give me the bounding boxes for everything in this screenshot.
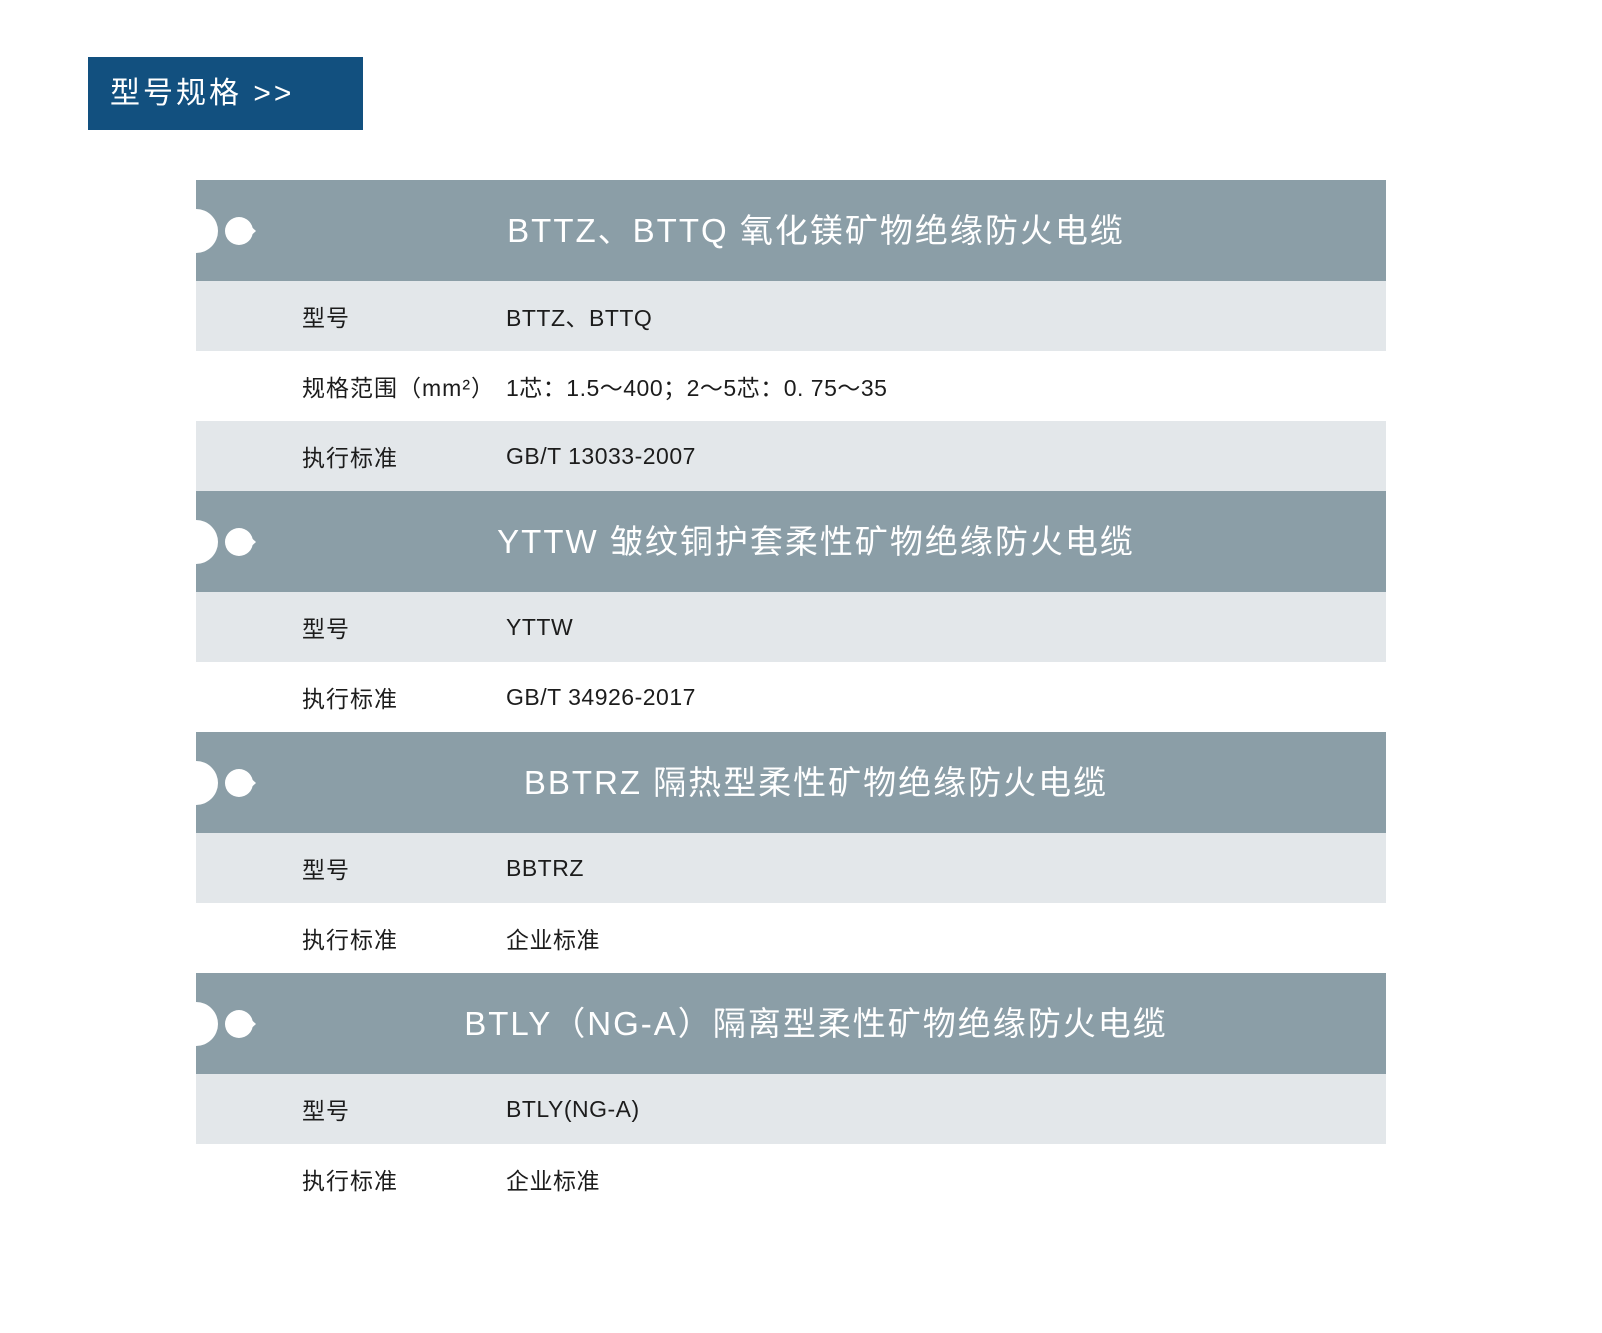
double-chevron-right-icon [224, 214, 258, 248]
spec-row: 型号YTTW [196, 592, 1386, 662]
spec-row-label: 执行标准 [196, 439, 506, 473]
section-header-1[interactable]: YTTW 皱纹铜护套柔性矿物绝缘防火电缆 [196, 491, 1386, 592]
spec-row-value: GB/T 13033-2007 [506, 443, 1386, 470]
section-title: BTLY（NG-A）隔离型柔性矿物绝缘防火电缆 [374, 1007, 1208, 1040]
section-header-2[interactable]: BBTRZ 隔热型柔性矿物绝缘防火电缆 [196, 732, 1386, 833]
spec-row-value: 企业标准 [506, 921, 1386, 955]
spec-row-value: YTTW [506, 614, 1386, 641]
specification-table: BTTZ、BTTQ 氧化镁矿物绝缘防火电缆型号BTTZ、BTTQ规格范围（mm²… [196, 180, 1386, 1214]
spec-row-label: 执行标准 [196, 921, 506, 955]
section-title: BBTRZ 隔热型柔性矿物绝缘防火电缆 [434, 766, 1148, 799]
spec-row-value: 1芯：1.5～400；2～5芯：0. 75～35 [506, 369, 1386, 403]
spec-row-label: 规格范围（mm²） [196, 369, 506, 403]
half-circle-notch-icon [196, 761, 218, 805]
spec-row-label: 执行标准 [196, 680, 506, 714]
spec-row: 执行标准GB/T 13033-2007 [196, 421, 1386, 491]
model-spec-tab-button[interactable]: 型号规格 >> [88, 57, 363, 130]
spec-row-value: BTTZ、BTTQ [506, 299, 1386, 333]
spec-row: 型号BBTRZ [196, 833, 1386, 903]
spec-section: BBTRZ 隔热型柔性矿物绝缘防火电缆型号BBTRZ执行标准企业标准 [196, 732, 1386, 973]
spec-row-value: 企业标准 [506, 1162, 1386, 1196]
spec-row-label: 执行标准 [196, 1162, 506, 1196]
spec-row: 规格范围（mm²）1芯：1.5～400；2～5芯：0. 75～35 [196, 351, 1386, 421]
spec-row-label: 型号 [196, 851, 506, 885]
half-circle-notch-icon [196, 1002, 218, 1046]
double-chevron-right-icon [224, 525, 258, 559]
spec-section: BTLY（NG-A）隔离型柔性矿物绝缘防火电缆型号BTLY(NG-A)执行标准企… [196, 973, 1386, 1214]
double-chevron-right-icon [224, 1007, 258, 1041]
spec-row-label: 型号 [196, 299, 506, 333]
section-title: YTTW 皱纹铜护套柔性矿物绝缘防火电缆 [407, 525, 1175, 558]
spec-section: YTTW 皱纹铜护套柔性矿物绝缘防火电缆型号YTTW执行标准GB/T 34926… [196, 491, 1386, 732]
spec-section: BTTZ、BTTQ 氧化镁矿物绝缘防火电缆型号BTTZ、BTTQ规格范围（mm²… [196, 180, 1386, 491]
spec-row-value: BTLY(NG-A) [506, 1096, 1386, 1123]
spec-row-label: 型号 [196, 610, 506, 644]
spec-row-label: 型号 [196, 1092, 506, 1126]
section-header-0[interactable]: BTTZ、BTTQ 氧化镁矿物绝缘防火电缆 [196, 180, 1386, 281]
spec-row: 型号BTLY(NG-A) [196, 1074, 1386, 1144]
spec-row: 执行标准企业标准 [196, 903, 1386, 973]
section-header-3[interactable]: BTLY（NG-A）隔离型柔性矿物绝缘防火电缆 [196, 973, 1386, 1074]
spec-row-value: GB/T 34926-2017 [506, 684, 1386, 711]
spec-row-value: BBTRZ [506, 855, 1386, 882]
half-circle-notch-icon [196, 520, 218, 564]
half-circle-notch-icon [196, 209, 218, 253]
spec-row: 型号BTTZ、BTTQ [196, 281, 1386, 351]
spec-row: 执行标准企业标准 [196, 1144, 1386, 1214]
model-spec-tab-label: 型号规格 >> [110, 79, 294, 109]
section-title: BTTZ、BTTQ 氧化镁矿物绝缘防火电缆 [417, 214, 1165, 247]
double-chevron-right-icon [224, 766, 258, 800]
spec-row: 执行标准GB/T 34926-2017 [196, 662, 1386, 732]
